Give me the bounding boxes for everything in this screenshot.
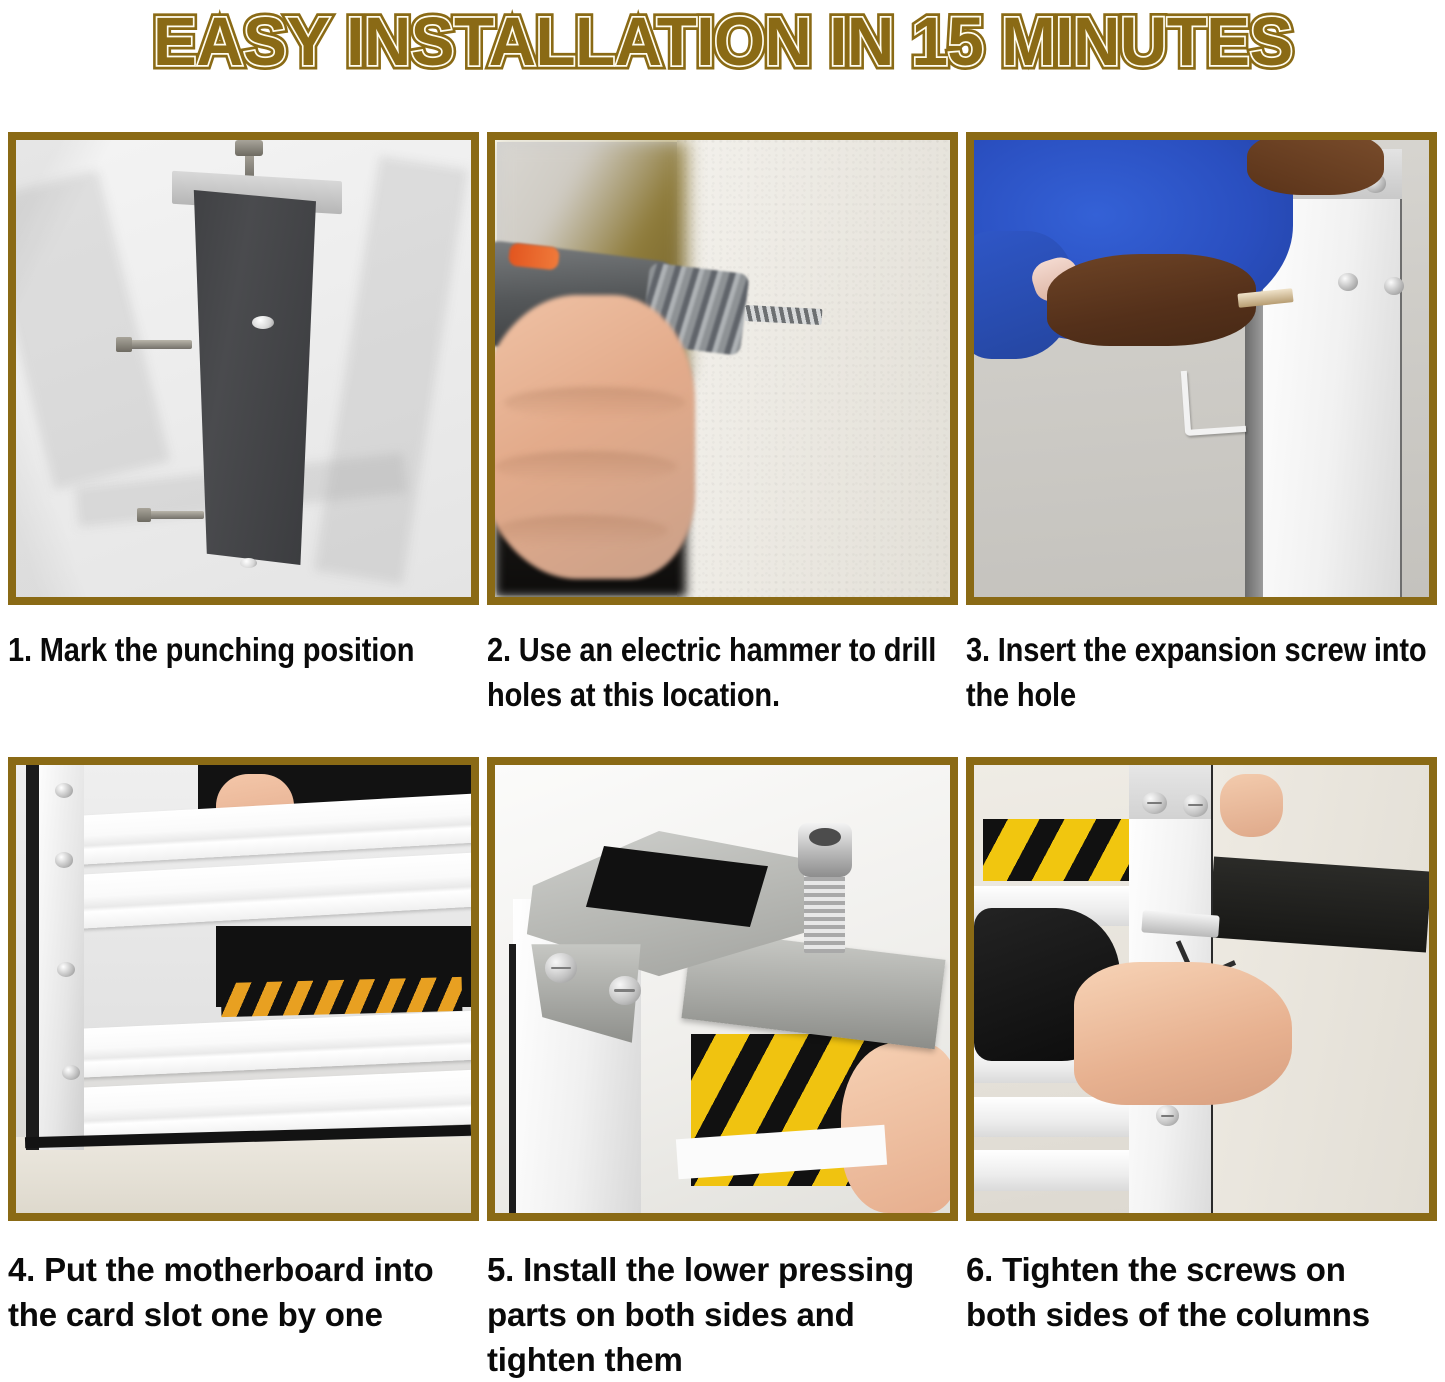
step-card-2: 2. Use an electric hammer to drill holes… [487, 132, 958, 749]
step-photo-6 [966, 757, 1437, 1221]
step-photo-1 [8, 132, 479, 605]
infographic-page: EASY INSTALLATION IN 15 MINUTESEASY INST… [0, 0, 1445, 1352]
step-photo-4 [8, 757, 479, 1221]
step-card-6: 6. Tighten the screws on both sides of t… [966, 757, 1437, 1382]
headline-banner: EASY INSTALLATION IN 15 MINUTESEASY INST… [0, 0, 1445, 84]
step-card-3: 3. Insert the expansion screw into the h… [966, 132, 1437, 749]
step-photo-3 [966, 132, 1437, 605]
step-photo-5 [487, 757, 958, 1221]
steps-grid: 1. Mark the punching position [8, 132, 1437, 1382]
step-caption-2: 2. Use an electric hammer to drill holes… [487, 605, 969, 749]
steps-row-bottom: 4. Put the motherboard into the card slo… [8, 757, 1437, 1382]
step-card-5: 5. Install the lower pressing parts on b… [487, 757, 958, 1382]
page-title: EASY INSTALLATION IN 15 MINUTESEASY INST… [153, 7, 1293, 77]
step-card-4: 4. Put the motherboard into the card slo… [8, 757, 479, 1382]
step-caption-4: 4. Put the motherboard into the card slo… [8, 1221, 479, 1337]
steps-row-top: 1. Mark the punching position [8, 132, 1437, 749]
step-caption-6: 6. Tighten the screws on both sides of t… [966, 1221, 1437, 1337]
page-title-outline: EASY INSTALLATION IN 15 MINUTES [153, 7, 1293, 77]
step-caption-1: 1. Mark the punching position [8, 605, 490, 749]
step-photo-2 [487, 132, 958, 605]
step-caption-5: 5. Install the lower pressing parts on b… [487, 1221, 958, 1382]
step-card-1: 1. Mark the punching position [8, 132, 479, 749]
step-caption-3: 3. Insert the expansion screw into the h… [966, 605, 1445, 749]
